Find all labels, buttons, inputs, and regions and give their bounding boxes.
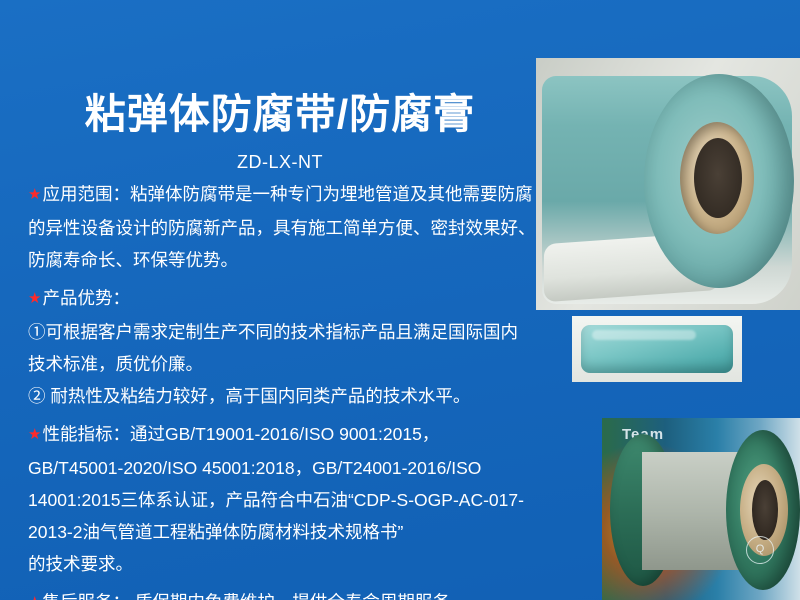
star-icon: ★	[28, 594, 41, 600]
spool-hole	[752, 480, 778, 540]
section-advantages-line-2: ①可根据客户需求定制生产不同的技术指标产品且满足国际国内	[28, 316, 584, 348]
section-scope-line-3: 防腐寿命长、环保等优势。	[28, 244, 584, 276]
product-model: ZD-LX-NT	[0, 152, 560, 173]
section-advantages-line-3: 技术标准，质优价廉。	[28, 348, 584, 380]
section-specs-line-1: ★性能指标：通过GB/T19001-2016/ISO 9001:2015，	[28, 418, 584, 452]
roll-hole	[694, 138, 742, 218]
section-advantages-line-1: ★产品优势：	[28, 282, 584, 316]
section-specs-line-3: 14001:2015三体系认证，产品符合中石油“CDP-S-OGP-AC-017…	[28, 484, 584, 516]
section-scope-line-2: 的异性设备设计的防腐新产品，具有施工简单方便、密封效果好、	[28, 212, 584, 244]
section-scope-text-1: 应用范围：粘弹体防腐带是一种专门为埋地管道及其他需要防腐	[42, 184, 532, 204]
star-icon: ★	[28, 426, 41, 443]
product-photo-spool: Team ADHESIVE TAPE Q	[602, 418, 800, 600]
section-specs-line-5: 的技术要求。	[28, 548, 584, 580]
spool-logo-icon: Q	[746, 536, 774, 564]
star-icon: ★	[28, 186, 41, 203]
product-photo-slab	[572, 316, 742, 382]
product-photo-roll	[536, 58, 800, 310]
section-specs-text-1: 性能指标：通过GB/T19001-2016/ISO 9001:2015，	[42, 424, 439, 444]
product-description: ★应用范围：粘弹体防腐带是一种专门为埋地管道及其他需要防腐 的异性设备设计的防腐…	[28, 178, 584, 600]
section-service-text: 售后服务： 质保期内免费维护，提供全寿命周期服务	[42, 592, 449, 600]
section-scope-line-1: ★应用范围：粘弹体防腐带是一种专门为埋地管道及其他需要防腐	[28, 178, 584, 212]
slab-highlight	[592, 330, 696, 340]
star-icon: ★	[28, 290, 41, 307]
product-poster: 粘弹体防腐带/防腐膏 ZD-LX-NT ★应用范围：粘弹体防腐带是一种专门为埋地…	[0, 0, 800, 600]
section-specs-line-2: GB/T45001-2020/ISO 45001:2018，GB/T24001-…	[28, 452, 584, 484]
page-title: 粘弹体防腐带/防腐膏	[0, 92, 560, 137]
section-advantages-heading: 产品优势：	[42, 288, 130, 308]
section-service-line-1: ★售后服务： 质保期内免费维护，提供全寿命周期服务	[28, 586, 584, 600]
section-specs-line-4: 2013-2油气管道工程粘弹体防腐材料技术规格书”	[28, 516, 584, 548]
section-advantages-line-4: ② 耐热性及粘结力较好，高于国内同类产品的技术水平。	[28, 380, 584, 412]
